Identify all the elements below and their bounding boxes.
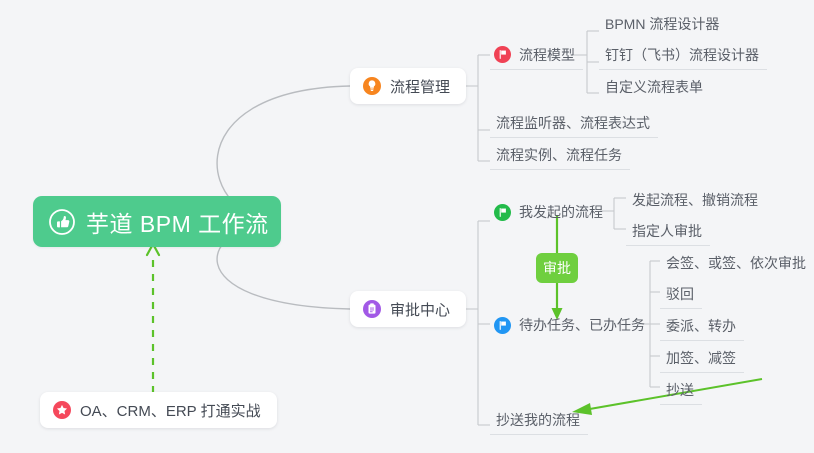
floating-node-integration-practice[interactable]: OA、CRM、ERP 打通实战: [40, 392, 277, 428]
node-countersign-orsign-sequential[interactable]: 会签、或签、依次审批: [660, 248, 814, 278]
node-label-start-cancel-process: 发起流程、撤销流程: [632, 190, 758, 210]
branch-node-approval-center[interactable]: 审批中心: [350, 291, 466, 327]
floating-label-integration-practice: OA、CRM、ERP 打通实战: [80, 400, 261, 421]
node-label-todo-done-task: 待办任务、已办任务: [519, 315, 645, 335]
flag-icon: [494, 204, 511, 221]
lightbulb-icon: [363, 77, 381, 95]
node-label-cc: 抄送: [666, 380, 694, 400]
node-label-dingtalk-feishu-designer: 钉钉（飞书）流程设计器: [605, 45, 759, 65]
node-label-bpmn-designer: BPMN 流程设计器: [605, 14, 719, 34]
node-label-process-model: 流程模型: [519, 45, 575, 65]
node-label-custom-process-form: 自定义流程表单: [605, 77, 703, 97]
node-reject[interactable]: 驳回: [660, 279, 702, 309]
node-custom-process-form[interactable]: 自定义流程表单: [599, 72, 711, 102]
node-label-cc-to-me-process: 抄送我的流程: [496, 410, 580, 430]
node-process-instance-task[interactable]: 流程实例、流程任务: [490, 140, 630, 170]
node-label-process-listener-expression: 流程监听器、流程表达式: [496, 113, 650, 133]
mindmap-canvas: 芋道 BPM 工作流 流程管理 流程模型 BPMN 流程设计器 钉钉（飞书: [0, 0, 814, 453]
node-assignee-approval[interactable]: 指定人审批: [626, 216, 710, 246]
branch-node-process-management[interactable]: 流程管理: [350, 68, 466, 104]
clipboard-icon: [363, 300, 381, 318]
node-label-reject: 驳回: [666, 284, 694, 304]
node-label-add-remove-sign: 加签、减签: [666, 348, 736, 368]
root-label: 芋道 BPM 工作流: [86, 205, 269, 239]
tag-label-approval: 审批: [543, 258, 571, 278]
node-my-started-process[interactable]: 我发起的流程: [490, 197, 611, 227]
node-label-assignee-approval: 指定人审批: [632, 221, 702, 241]
node-process-listener-expression[interactable]: 流程监听器、流程表达式: [490, 108, 658, 138]
node-add-remove-sign[interactable]: 加签、减签: [660, 343, 744, 373]
node-todo-done-task[interactable]: 待办任务、已办任务: [490, 310, 653, 340]
node-label-process-instance-task: 流程实例、流程任务: [496, 145, 622, 165]
flag-icon: [494, 317, 511, 334]
node-label-delegate-transfer: 委派、转办: [666, 316, 736, 336]
node-cc-to-me-process[interactable]: 抄送我的流程: [490, 405, 588, 435]
branch-label-process-management: 流程管理: [390, 76, 450, 97]
node-label-countersign-orsign-sequential: 会签、或签、依次审批: [666, 253, 806, 273]
node-dingtalk-feishu-designer[interactable]: 钉钉（飞书）流程设计器: [599, 40, 767, 70]
flag-icon: [494, 46, 511, 63]
branch-label-approval-center: 审批中心: [390, 299, 450, 320]
star-icon: [53, 401, 71, 419]
node-process-model[interactable]: 流程模型: [490, 40, 583, 70]
node-label-my-started-process: 我发起的流程: [519, 202, 603, 222]
node-cc[interactable]: 抄送: [660, 375, 702, 405]
node-bpmn-designer[interactable]: BPMN 流程设计器: [599, 9, 727, 39]
node-start-cancel-process[interactable]: 发起流程、撤销流程: [626, 185, 766, 215]
tag-node-approval[interactable]: 审批: [536, 253, 578, 283]
node-delegate-transfer[interactable]: 委派、转办: [660, 311, 744, 341]
root-node[interactable]: 芋道 BPM 工作流: [33, 196, 281, 247]
thumbs-up-icon: [49, 209, 75, 235]
